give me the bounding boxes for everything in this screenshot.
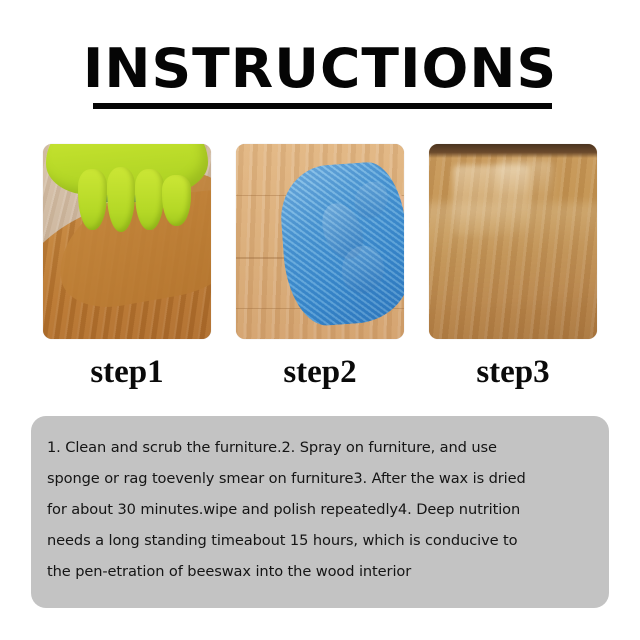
blue-microfiber-cloth [278, 159, 404, 327]
step-2-photo [236, 144, 404, 339]
instructions-text: 1. Clean and scrub the furniture.2. Spra… [47, 432, 587, 587]
surface-sheen [429, 203, 597, 310]
instructions-textbox: 1. Clean and scrub the furniture.2. Spra… [31, 416, 609, 608]
step-1-label: step1 [43, 352, 211, 396]
step-image-panels [43, 144, 597, 339]
background-shadow-band [429, 144, 597, 158]
step-3-label: step3 [429, 352, 597, 396]
step-3-photo [429, 144, 597, 339]
instructions-infographic: INSTRUCTIONS [0, 0, 640, 640]
title-underline-rule [93, 103, 552, 109]
step-labels: step1 step2 step3 [43, 352, 597, 396]
step-1-image [43, 144, 211, 339]
step-1-photo [43, 144, 211, 339]
page-title: INSTRUCTIONS [0, 40, 640, 98]
step-2-label: step2 [236, 352, 404, 396]
step-2-image [236, 144, 404, 339]
page-title-block: INSTRUCTIONS [0, 40, 640, 98]
step-3-image [429, 144, 597, 339]
